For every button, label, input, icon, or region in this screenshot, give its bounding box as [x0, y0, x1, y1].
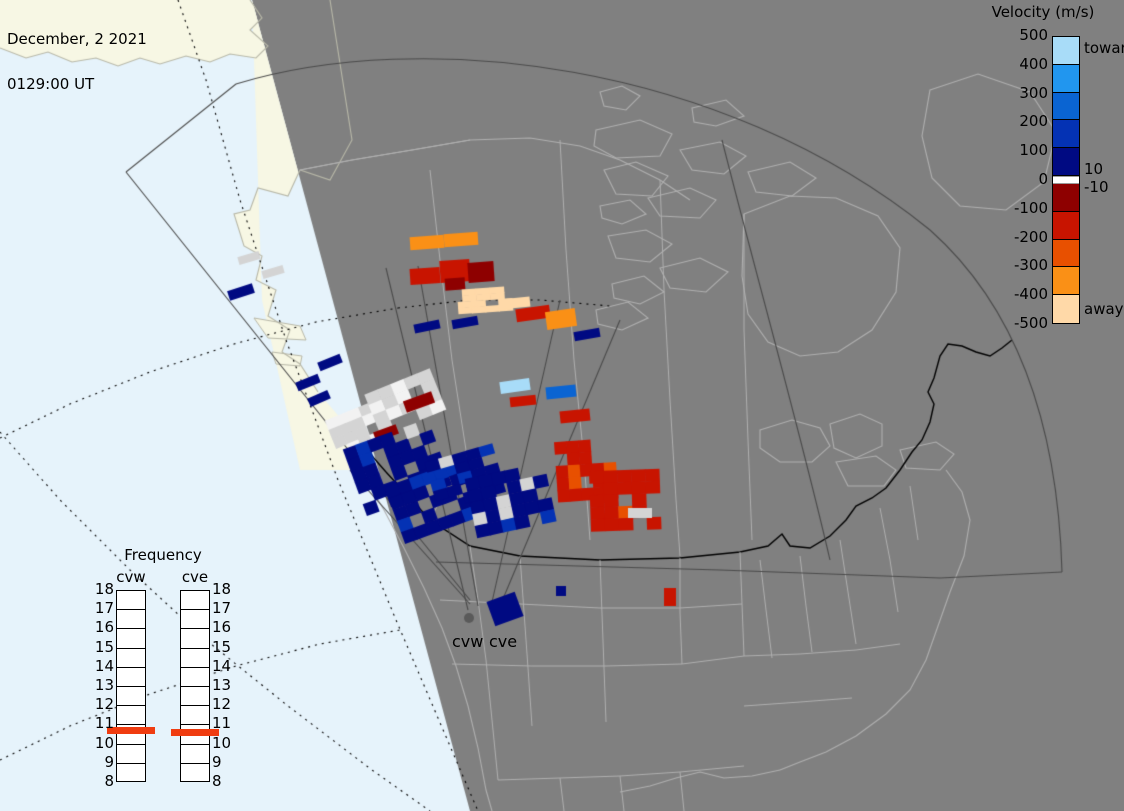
colorbar-band — [1053, 240, 1079, 268]
colorbar-tick-label: -100 — [984, 201, 1048, 216]
radar-site-label-cve: cve — [489, 634, 517, 650]
frequency-gauge-cvw — [116, 590, 146, 782]
colorbar-band — [1053, 65, 1079, 93]
frequency-tick-label: 17 — [212, 601, 234, 616]
frequency-tick-label: 13 — [92, 678, 114, 693]
frequency-gauge-cell — [117, 629, 145, 648]
radar-site-label-cvw: cvw — [452, 634, 483, 650]
colorbar-tick-label: 400 — [984, 57, 1048, 72]
colorbar-tick-label: -200 — [984, 230, 1048, 245]
colorbar-band — [1053, 295, 1079, 323]
colorbar-band — [1053, 120, 1079, 148]
frequency-gauge-cell — [117, 706, 145, 725]
colorbar-tick-label: -500 — [984, 316, 1048, 331]
frequency-scale-cvw: 18171615141312111098 — [92, 590, 114, 782]
frequency-tick-label: 9 — [92, 755, 114, 770]
colorbar-toward-label: toward — [1084, 41, 1124, 56]
colorbar-tick-label: -300 — [984, 258, 1048, 273]
frequency-tick-label: 16 — [92, 620, 114, 635]
frequency-tick-label: 15 — [212, 640, 234, 655]
frequency-tick-label: 8 — [212, 774, 234, 789]
timestamp: December, 2 2021 0129:00 UT — [7, 2, 147, 122]
frequency-tick-label: 14 — [92, 659, 114, 674]
frequency-gauge-cell — [181, 629, 209, 648]
frequency-gauge-cell — [181, 745, 209, 764]
frequency-tick-label: 10 — [212, 736, 234, 751]
frequency-gauge-cell — [181, 764, 209, 783]
frequency-marker-cvw — [107, 727, 155, 734]
frequency-gauge-cve — [180, 590, 210, 782]
frequency-tick-label: 8 — [92, 774, 114, 789]
frequency-scale-cve: 18171615141312111098 — [212, 590, 234, 782]
colorbar-title: Velocity (m/s) — [978, 3, 1108, 21]
frequency-gauge-cell — [117, 687, 145, 706]
colorbar-strip — [1052, 36, 1080, 324]
timestamp-date: December, 2 2021 — [7, 32, 147, 47]
colorbar-zero-band — [1053, 176, 1079, 184]
colorbar-tick-label: 100 — [984, 143, 1048, 158]
colorbar-band — [1053, 212, 1079, 240]
frequency-tick-label: 9 — [212, 755, 234, 770]
frequency-gauge-cell — [117, 745, 145, 764]
colorbar-tick-label: 300 — [984, 86, 1048, 101]
colorbar-tick-label: 0 — [984, 172, 1048, 187]
frequency-tick-label: 12 — [92, 697, 114, 712]
superdarn-fan-plot: December, 2 2021 0129:00 UT Velocity (m/… — [0, 0, 1124, 811]
frequency-tick-label: 15 — [92, 640, 114, 655]
frequency-tick-label: 14 — [212, 659, 234, 674]
frequency-gauge-cell — [117, 610, 145, 629]
timestamp-time: 0129:00 UT — [7, 77, 147, 92]
frequency-tick-label: 13 — [212, 678, 234, 693]
frequency-gauge-cell — [181, 649, 209, 668]
colorbar-band — [1053, 184, 1079, 212]
frequency-tick-label: 16 — [212, 620, 234, 635]
frequency-tick-label: 12 — [212, 697, 234, 712]
colorbar-tick-label: 200 — [984, 114, 1048, 129]
colorbar-plus10-label: 10 — [1084, 162, 1103, 177]
colorbar-minus10-label: -10 — [1084, 180, 1109, 195]
frequency-gauge-cell — [117, 764, 145, 783]
frequency-tick-label: 10 — [92, 736, 114, 751]
frequency-gauge-cell — [117, 649, 145, 668]
colorbar-band — [1053, 267, 1079, 295]
frequency-gauge-cell — [181, 668, 209, 687]
frequency-title: Frequency — [92, 546, 234, 564]
frequency-tick-label: 17 — [92, 601, 114, 616]
frequency-gauge-cell — [117, 668, 145, 687]
colorbar-band — [1053, 93, 1079, 121]
velocity-colorbar: Velocity (m/s) 5004003002001000-100-200-… — [978, 0, 1124, 340]
frequency-gauge-cell — [181, 706, 209, 725]
frequency-tick-label: 18 — [92, 582, 114, 597]
frequency-legend: Frequency cvw18171615141312111098cve1817… — [92, 546, 234, 786]
colorbar-tick-label: -400 — [984, 287, 1048, 302]
frequency-gauge-cell — [181, 591, 209, 610]
colorbar-band — [1053, 148, 1079, 176]
colorbar-away-label: away — [1084, 302, 1124, 317]
colorbar-band — [1053, 37, 1079, 65]
frequency-tick-label: 11 — [212, 716, 234, 731]
frequency-gauge-cell — [181, 687, 209, 706]
frequency-gauge-cell — [117, 591, 145, 610]
frequency-gauge-cell — [181, 610, 209, 629]
colorbar-tick-label: 500 — [984, 28, 1048, 43]
frequency-tick-label: 18 — [212, 582, 234, 597]
frequency-tick-label: 11 — [92, 716, 114, 731]
